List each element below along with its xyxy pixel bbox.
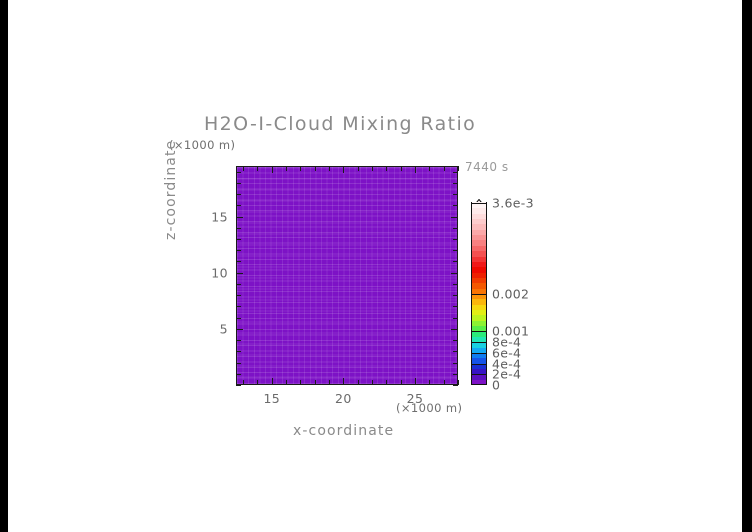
x-tick-bottom [372, 380, 373, 385]
y-tick-right [453, 306, 458, 307]
x-tick-top [329, 166, 330, 171]
x-tick-top [358, 166, 359, 171]
colorbar-band [471, 277, 487, 283]
x-tick-bottom [401, 380, 402, 385]
left-black-border [0, 0, 8, 532]
colorbar[interactable] [471, 203, 487, 385]
y-tick-right [453, 183, 458, 184]
colorbar-band [471, 283, 487, 289]
y-tick-right [453, 228, 458, 229]
y-tick-left [236, 273, 243, 274]
y-tick-right [453, 261, 458, 262]
x-tick-bottom [315, 380, 316, 385]
colorbar-tick-label: 0.002 [492, 287, 529, 302]
x-tick-bottom [272, 378, 273, 385]
x-tick-bottom [343, 378, 344, 385]
colorbar-band [471, 315, 487, 321]
y-tick-right [453, 250, 458, 251]
y-tick-right [453, 172, 458, 173]
colorbar-band [471, 304, 487, 310]
colorbar-level-separator [471, 203, 487, 204]
y-tick-left [236, 205, 241, 206]
y-tick-left [236, 284, 241, 285]
colorbar-tick-label: 3.6e-3 [492, 196, 534, 211]
colorbar-band [471, 267, 487, 273]
y-tick-right [451, 329, 458, 330]
colorbar-band [471, 251, 487, 257]
x-tick-top [257, 166, 258, 171]
x-tick-top [415, 166, 416, 173]
heatmap-field [237, 167, 457, 384]
x-tick-label: 15 [263, 391, 280, 406]
x-tick-bottom [243, 380, 244, 385]
right-black-border [742, 0, 752, 532]
y-tick-left [236, 172, 241, 173]
x-tick-bottom [257, 380, 258, 385]
x-tick-bottom [458, 380, 459, 385]
time-annotation: 7440 s [465, 160, 509, 174]
colorbar-level-separator [471, 374, 487, 375]
y-tick-left [236, 250, 241, 251]
y-tick-right [453, 205, 458, 206]
x-tick-top [315, 166, 316, 171]
y-tick-left [236, 217, 243, 218]
colorbar-band [471, 224, 487, 230]
y-tick-left [236, 340, 241, 341]
colorbar-level-separator [471, 342, 487, 343]
y-tick-left [236, 228, 241, 229]
x-tick-top [272, 166, 273, 173]
plot-area[interactable] [236, 166, 458, 385]
colorbar-band [471, 208, 487, 214]
y-tick-left [236, 374, 241, 375]
colorbar-edge [471, 384, 487, 385]
colorbar-band [471, 309, 487, 315]
colorbar-band [471, 261, 487, 267]
y-tick-left [236, 351, 241, 352]
y-tick-right [453, 340, 458, 341]
x-tick-bottom [286, 380, 287, 385]
x-tick-bottom [329, 380, 330, 385]
x-tick-bottom [300, 380, 301, 385]
y-tick-left [236, 306, 241, 307]
y-tick-left [236, 329, 243, 330]
y-tick-right [453, 363, 458, 364]
colorbar-band [471, 245, 487, 251]
x-axis-units-label: (×1000 m) [396, 401, 462, 415]
y-tick-right [451, 273, 458, 274]
x-tick-top [300, 166, 301, 171]
colorbar-level-separator [471, 331, 487, 332]
colorbar-level-separator [471, 364, 487, 365]
colorbar-band [471, 320, 487, 326]
colorbar-band [471, 256, 487, 262]
x-tick-bottom [358, 380, 359, 385]
y-tick-right [453, 385, 458, 386]
y-tick-left [236, 239, 241, 240]
x-tick-top [243, 166, 244, 171]
x-tick-top [286, 166, 287, 171]
x-tick-top [444, 166, 445, 171]
x-tick-top [386, 166, 387, 171]
y-tick-right [451, 217, 458, 218]
x-tick-label: 20 [335, 391, 352, 406]
colorbar-band [471, 213, 487, 219]
x-tick-top [372, 166, 373, 171]
y-tick-label: 15 [210, 209, 228, 224]
y-tick-left [236, 194, 241, 195]
y-tick-right [453, 318, 458, 319]
colorbar-band [471, 218, 487, 224]
page-title: H2O-I-Cloud Mixing Ratio [204, 113, 476, 135]
y-tick-left [236, 261, 241, 262]
y-tick-left [236, 295, 241, 296]
colorbar-band [471, 272, 487, 278]
colorbar-level-separator [471, 294, 487, 295]
y-tick-left [236, 385, 241, 386]
y-tick-left [236, 363, 241, 364]
colorbar-tick-label: 0.001 [492, 324, 529, 339]
x-tick-top [458, 166, 459, 171]
x-tick-bottom [444, 380, 445, 385]
y-tick-right [453, 351, 458, 352]
colorbar-band [471, 235, 487, 241]
figure-canvas: H2O-I-Cloud Mixing Ratio (×1000 m) 7440 … [8, 0, 742, 532]
y-tick-right [453, 239, 458, 240]
x-axis-title: x-coordinate [293, 423, 394, 439]
y-tick-left [236, 183, 241, 184]
y-axis-title: z-coordinate [163, 140, 179, 240]
x-tick-bottom [415, 378, 416, 385]
x-tick-top [401, 166, 402, 171]
x-tick-bottom [429, 380, 430, 385]
y-tick-right [453, 374, 458, 375]
x-tick-top [429, 166, 430, 171]
y-tick-left [236, 318, 241, 319]
colorbar-band [471, 229, 487, 235]
colorbar-band [471, 240, 487, 246]
y-tick-right [453, 295, 458, 296]
y-tick-right [453, 284, 458, 285]
colorbar-band [471, 299, 487, 305]
x-tick-top [343, 166, 344, 173]
y-tick-label: 5 [210, 321, 228, 336]
y-tick-label: 10 [210, 265, 228, 280]
colorbar-level-separator [471, 353, 487, 354]
x-tick-bottom [386, 380, 387, 385]
y-tick-right [453, 194, 458, 195]
